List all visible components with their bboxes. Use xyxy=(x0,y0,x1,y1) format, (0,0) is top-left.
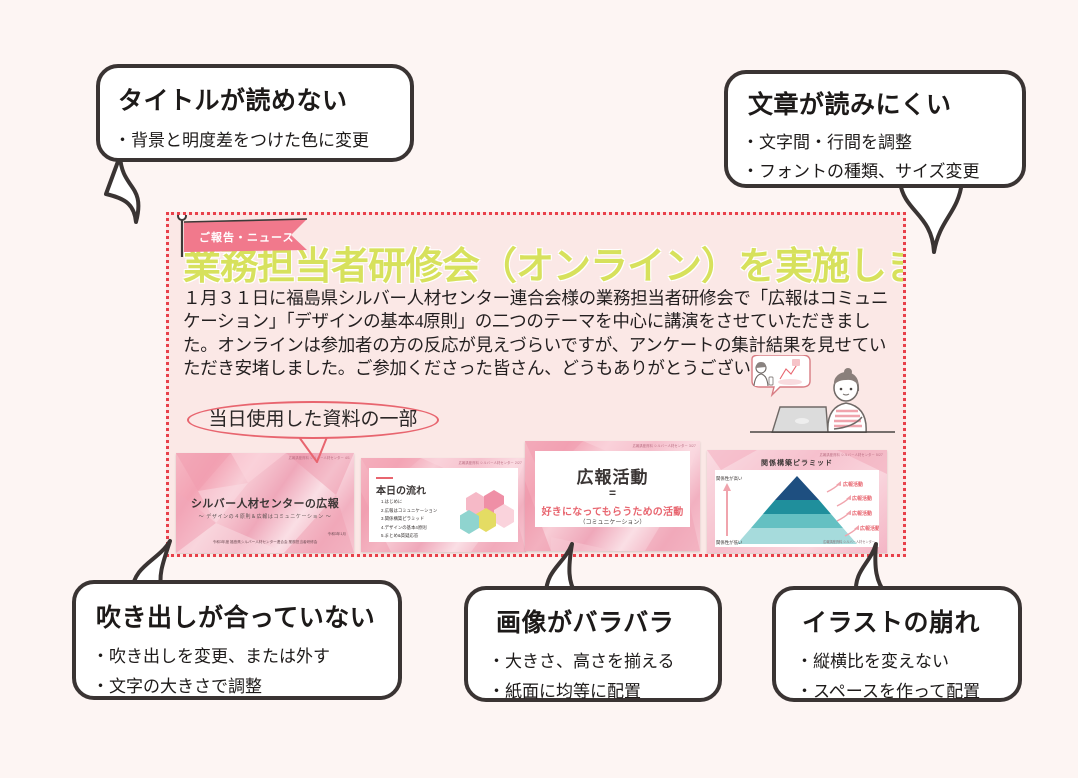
slide-line-3: 好きになってもらうための活動 xyxy=(525,503,700,518)
oval-caption-label: 当日使用した資料の一部 xyxy=(189,403,437,437)
callout-title-unreadable: タイトルが読めない ・背景と明度差をつけた色に変更 xyxy=(96,64,414,162)
callout-item: ・背景と明度差をつけた色に変更 xyxy=(114,126,410,151)
callout-item: ・大きさ、高さを揃える xyxy=(488,647,718,672)
ribbon-banner: ご報告・ニュース xyxy=(175,212,315,262)
list-item: 5.まとめ&質疑応答 xyxy=(381,533,437,539)
slide-header: 広報講座資料 シルバー人材センター 3/27 xyxy=(633,443,696,448)
callout-title: 文章が読みにくい xyxy=(748,85,1022,121)
oval-caption-tail xyxy=(297,437,337,463)
slide-title: シルバー人材センターの広報 xyxy=(176,495,354,511)
callout-item: ・文字の大きさで調整 xyxy=(92,672,398,697)
pyramid-label: 広報活動 xyxy=(843,481,863,488)
callout-item: ・吹き出しを変更、または外す xyxy=(92,642,398,667)
callout-title: タイトルが読めない xyxy=(118,81,410,117)
slide-line-1: 広報活動 xyxy=(525,463,700,488)
ribbon-label: ご報告・ニュース xyxy=(199,230,294,244)
callout-item: ・縦横比を変えない xyxy=(796,647,1018,672)
axis-top-label: 関係性が高い xyxy=(716,475,743,482)
callout-illustration-distorted: イラストの崩れ ・縦横比を変えない ・スペースを作って配置 xyxy=(772,586,1022,702)
slide-thumbnail-3[interactable]: 広報講座資料 シルバー人材センター 3/27 広報活動 = 好きになってもらうた… xyxy=(525,441,700,551)
axis-bottom-label: 関係性が低い xyxy=(716,539,743,546)
slide-line-2: = xyxy=(525,486,700,500)
slide-thumbnail-1[interactable]: 広報講座資料 シルバー人材センター 4/1 シルバー人材センターの広報 ～ デザ… xyxy=(176,453,354,553)
slide-title-rule xyxy=(376,477,393,479)
pyramid-label: 広報活動 xyxy=(860,525,879,532)
slide-thumbnail-2[interactable]: 広報講座資料 シルバー人材センター 2/27 本日の流れ 1.はじめに 2.広報… xyxy=(361,458,526,552)
callout-speech-bubble-mismatch: 吹き出しが合っていない ・吹き出しを変更、または外す ・文字の大きさで調整 xyxy=(72,580,402,700)
pyramid-diagram: 関係性が高い 関係性が低い 広報活動 広報活動 広報活動 広報活動 xyxy=(715,470,879,547)
slide-title: 関係構築ピラミッド xyxy=(707,458,887,468)
callout-tail-text-hard-to-read xyxy=(890,178,980,258)
flyer-critique-page: タイトルが読めない ・背景と明度差をつけた色に変更 文章が読みにくい ・文字間・… xyxy=(0,0,1078,778)
pyramid-label: 広報活動 xyxy=(852,495,872,502)
callout-title: イラストの崩れ xyxy=(802,603,1018,639)
callout-item: ・文字間・行間を調整 xyxy=(742,128,1022,153)
oval-caption: 当日使用した資料の一部 xyxy=(187,401,439,439)
flyer-panel: ご報告・ニュース 業務担当者研修会（オンライン）を実施しました １月３１日に福島… xyxy=(166,212,906,557)
slide-title: 本日の流れ xyxy=(376,482,426,497)
slide-line-4: （コミュニケーション） xyxy=(525,517,700,526)
callout-item: ・紙面に均等に配置 xyxy=(488,677,718,702)
list-item: 1.はじめに xyxy=(381,499,437,505)
illustration-person-at-laptop xyxy=(750,355,895,433)
slide-subtitle: ～ デザインの４原則＆広報はコミュニケーション ～ xyxy=(176,513,354,520)
slide-footer-org: 令和3年度 福島県シルバー人材センター連合会 業務担当者研修会 xyxy=(176,540,354,545)
hexagon-decoration xyxy=(460,490,514,534)
callout-title: 画像がバラバラ xyxy=(496,603,718,639)
slide-header: 広報講座資料 シルバー人材センター 2/27 xyxy=(459,460,522,465)
slide-header: 広報講座資料 シルバー人材センター 5/27 xyxy=(820,452,883,457)
list-item: 4.デザインの基本4原則 xyxy=(381,525,437,531)
pyramid-label: 広報活動 xyxy=(852,510,872,517)
list-item: 3.関係構築ピラミッド xyxy=(381,516,437,522)
slide-list: 1.はじめに 2.広報はコミュニケーション 3.関係構築ピラミッド 4.デザイン… xyxy=(381,499,437,539)
list-item: 2.広報はコミュニケーション xyxy=(381,508,437,514)
callout-title: 吹き出しが合っていない xyxy=(96,598,398,634)
callout-tail-title-unreadable xyxy=(100,150,180,230)
callout-text-hard-to-read: 文章が読みにくい ・文字間・行間を調整 ・フォントの種類、サイズ変更 xyxy=(724,70,1026,188)
callout-images-inconsistent: 画像がバラバラ ・大きさ、高さを揃える ・紙面に均等に配置 xyxy=(464,586,722,702)
callout-item: ・スペースを作って配置 xyxy=(796,677,1018,702)
slide-footer-date: 令和3年1月 xyxy=(328,532,346,537)
callout-item: ・フォントの種類、サイズ変更 xyxy=(742,157,1022,182)
